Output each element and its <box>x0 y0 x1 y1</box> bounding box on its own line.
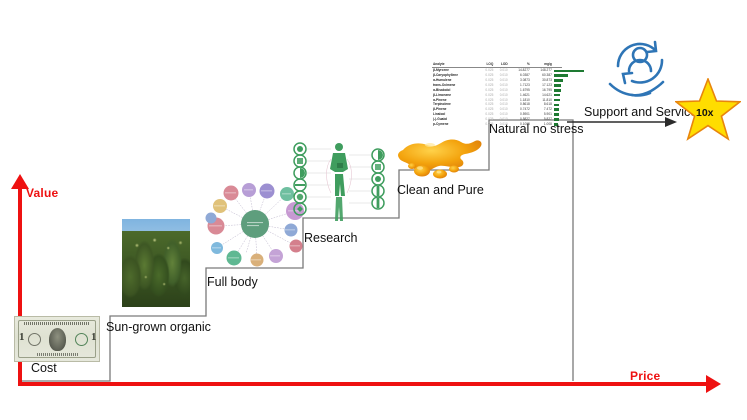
bar-segment <box>554 94 561 97</box>
cell-analyte: p-Cymene <box>432 122 480 127</box>
terpene-table: Analyte LOQ LOD % mg/g β-Myrcene0.0250.0… <box>432 62 562 127</box>
person-in-hand-refresh-icon <box>598 26 682 108</box>
step-caption-clean-and-pure: Clean and Pure <box>397 184 484 198</box>
bar-segment <box>554 70 584 73</box>
infographic-canvas: Value Price 1 1 Cost Sun-grown organic <box>0 0 747 420</box>
step-caption-sun-grown-organic: Sun-grown organic <box>106 321 211 335</box>
bar-segment <box>554 99 560 102</box>
bar-segment <box>554 104 560 107</box>
support-connector-arrow <box>565 110 685 134</box>
bar-segment <box>554 108 559 111</box>
price-axis-label: Price <box>630 369 660 383</box>
human-body-infographic <box>291 139 387 233</box>
bar-segment <box>554 84 561 87</box>
amber-extract-blob <box>396 132 488 180</box>
step-caption-full-body: Full body <box>207 276 258 290</box>
bar-segment <box>554 113 559 116</box>
bar-segment <box>554 79 563 82</box>
step-caption-cost: Cost <box>31 362 57 376</box>
bar-segment <box>554 74 569 77</box>
step-caption-research: Research <box>304 232 358 246</box>
value-axis-label: Value <box>26 186 58 200</box>
dollar-bill-icon: 1 1 <box>14 316 100 362</box>
bar-segment <box>554 118 559 121</box>
price-axis-line <box>18 382 710 386</box>
star-multiplier-label: 10x <box>696 107 714 119</box>
bar-segment <box>554 89 561 92</box>
price-axis-arrowhead <box>706 375 721 393</box>
hemp-field-photo <box>122 219 190 307</box>
